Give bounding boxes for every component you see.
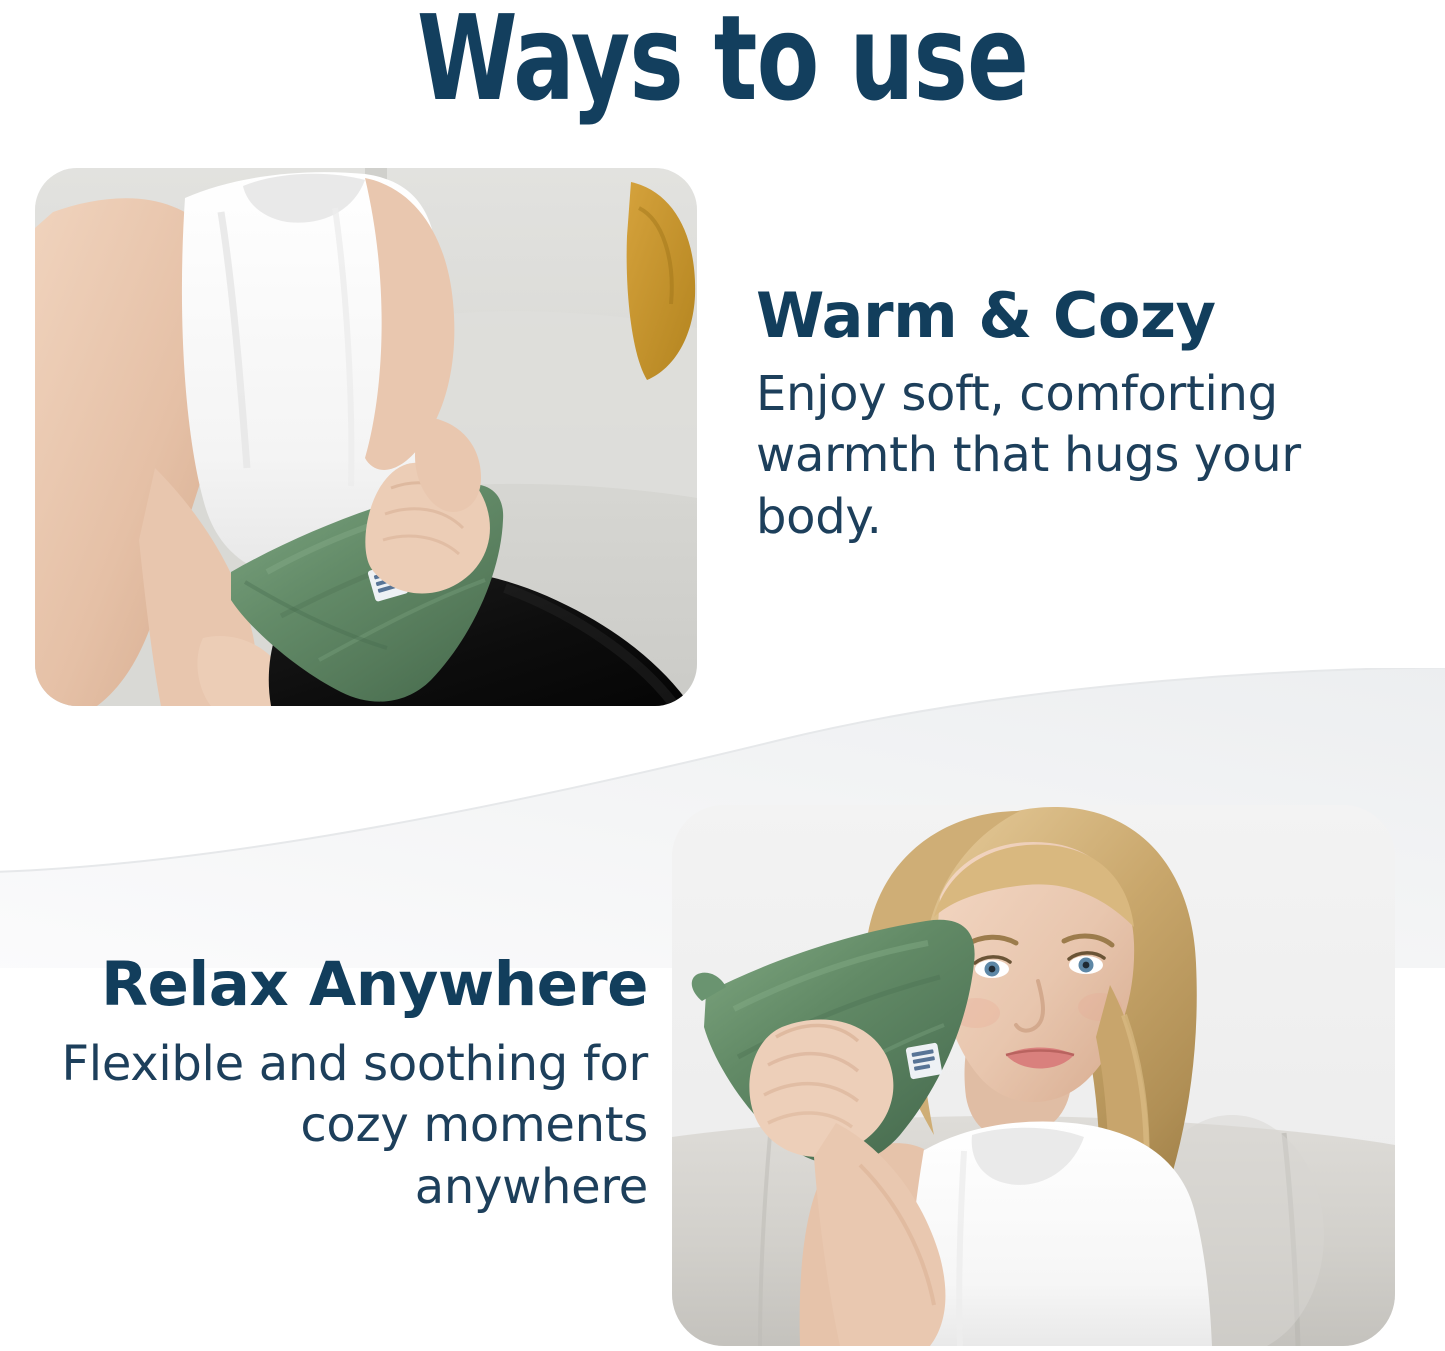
feature-body-relax-anywhere: Flexible and soothing for cozy moments a… <box>58 1034 648 1218</box>
feature-heading-relax-anywhere: Relax Anywhere <box>58 952 648 1018</box>
product-label-tag <box>905 1042 942 1079</box>
page-title: Ways to use <box>101 0 1344 124</box>
woman-holding-heat-pad-on-shoulder-photo <box>672 805 1395 1346</box>
woman-with-heat-pad-on-lap-photo <box>35 168 697 706</box>
feature-block-warm-cozy: Warm & Cozy Enjoy soft, comforting warmt… <box>756 283 1356 548</box>
feature-body-warm-cozy: Enjoy soft, comforting warmth that hugs … <box>756 364 1356 548</box>
feature-heading-warm-cozy: Warm & Cozy <box>756 283 1356 350</box>
infographic-page: Ways to use <box>0 0 1445 1351</box>
feature-block-relax-anywhere: Relax Anywhere Flexible and soothing for… <box>58 952 648 1218</box>
